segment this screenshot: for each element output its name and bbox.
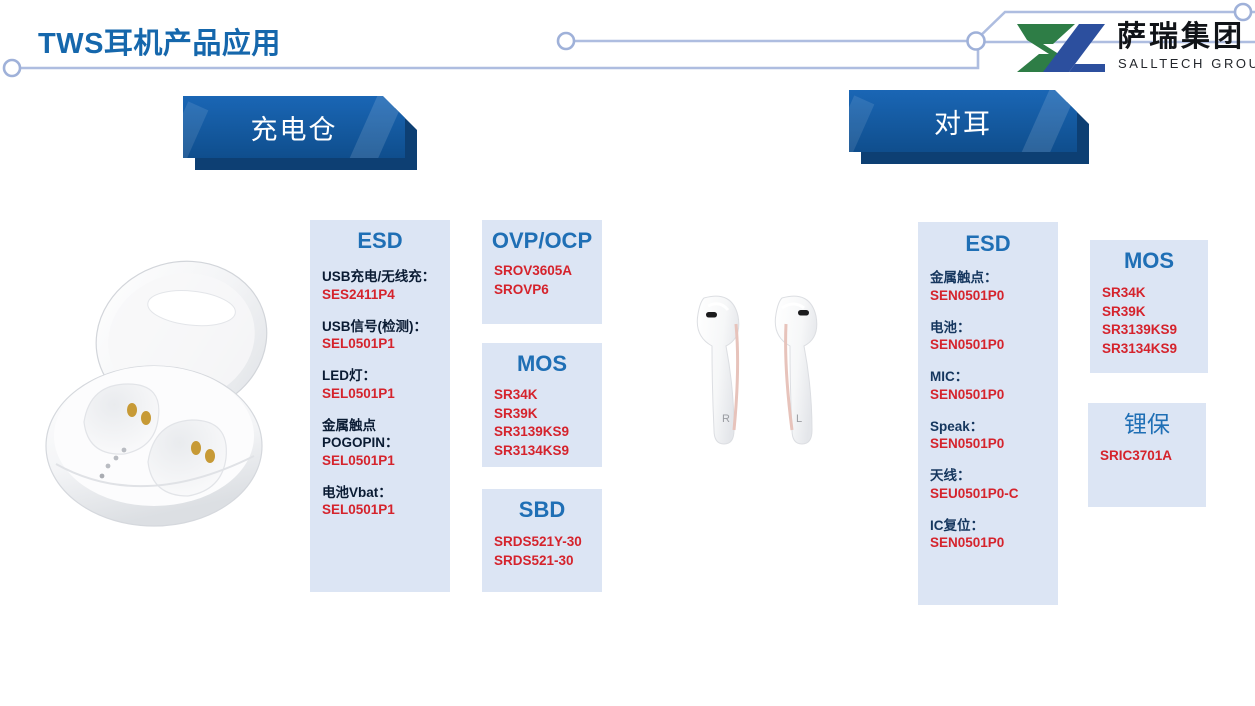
- panel-title: ESD: [310, 220, 450, 254]
- spec-part-number: SR3134KS9: [494, 442, 602, 461]
- spec-part-number: SR3134KS9: [1102, 340, 1208, 359]
- banner-label-charging-case: 充电仓: [183, 96, 405, 158]
- panel-ovp-ocp: OVP/OCP SROV3605A SROVP6: [482, 220, 602, 324]
- spec-row: 天线： SEU0501P0-C: [930, 467, 1058, 503]
- spec-part-number: SEN0501P0: [930, 287, 1058, 305]
- panel-esd-earbuds: ESD 金属触点： SEN0501P0 电池： SEN0501P0 MIC： S…: [918, 222, 1058, 605]
- spec-label: USB充电/无线充：: [322, 268, 450, 286]
- spec-part-number: SR34K: [1102, 284, 1208, 303]
- spec-row: 金属触点： SEN0501P0: [930, 269, 1058, 305]
- spec-row: USB信号(检测)： SEL0501P1: [322, 318, 450, 354]
- earbuds-photo: R L: [668, 272, 858, 462]
- panel-title: MOS: [1090, 240, 1208, 274]
- spec-part-number: SR3139KS9: [494, 423, 602, 442]
- slide-canvas: TWS耳机产品应用 萨瑞集团 SALLTECH GROUP 充电仓 对耳: [0, 0, 1255, 706]
- spec-part-number: SRIC3701A: [1100, 447, 1206, 466]
- node-circle-left: [4, 60, 20, 76]
- panel-title: SBD: [482, 489, 602, 523]
- svg-text:R: R: [722, 413, 730, 425]
- spec-label-line2: POGOPIN：: [322, 434, 450, 452]
- spec-label: MIC：: [930, 368, 1058, 386]
- spec-part-number: SEL0501P1: [322, 501, 450, 519]
- spec-row: IC复位： SEN0501P0: [930, 517, 1058, 553]
- spec-part-number: SR3139KS9: [1102, 321, 1208, 340]
- spec-part-number: SR39K: [1102, 303, 1208, 322]
- panel-esd-charging-case: ESD USB充电/无线充： SES2411P4 USB信号(检测)： SEL0…: [310, 220, 450, 592]
- spec-part-number: SR34K: [494, 386, 602, 405]
- node-circle-right: [968, 33, 985, 50]
- spec-part-number: SEN0501P0: [930, 386, 1058, 404]
- spec-row: USB充电/无线充： SES2411P4: [322, 268, 450, 304]
- logo-company-name-en: SALLTECH GROUP: [1118, 56, 1255, 71]
- banner-label-earbuds: 对耳: [849, 90, 1077, 152]
- spec-label: 金属触点: [322, 417, 450, 435]
- spec-part-number: SROVP6: [494, 281, 602, 300]
- spec-part-number: SRDS521Y-30: [494, 533, 602, 552]
- spec-part-number: SEN0501P0: [930, 435, 1058, 453]
- spec-part-number: SEN0501P0: [930, 534, 1058, 552]
- company-logo: 萨瑞集团 SALLTECH GROUP: [1013, 18, 1245, 80]
- panel-title: ESD: [918, 222, 1058, 257]
- section-banner-charging-case: 充电仓: [183, 96, 405, 158]
- spec-label: LED灯：: [322, 367, 450, 385]
- spec-label: 金属触点：: [930, 269, 1058, 287]
- panel-sbd: SBD SRDS521Y-30 SRDS521-30: [482, 489, 602, 592]
- svg-text:L: L: [796, 413, 802, 425]
- spec-part-number: SEL0501P1: [322, 335, 450, 353]
- salltech-logo-mark-icon: [1013, 20, 1109, 76]
- spec-label: USB信号(检测)：: [322, 318, 450, 336]
- logo-company-name-cn: 萨瑞集团: [1117, 20, 1245, 54]
- spec-row: 电池： SEN0501P0: [930, 319, 1058, 355]
- node-circle-mid: [558, 33, 574, 49]
- spec-part-number: SES2411P4: [322, 286, 450, 304]
- spec-part-number: SRDS521-30: [494, 552, 602, 571]
- charging-case-photo: [32, 250, 298, 542]
- panel-mos-charging-case: MOS SR34K SR39K SR3139KS9 SR3134KS9: [482, 343, 602, 467]
- spec-row: 电池Vbat： SEL0501P1: [322, 484, 450, 520]
- page-title: TWS耳机产品应用: [38, 20, 281, 62]
- panel-title: 锂保: [1088, 403, 1206, 437]
- spec-row: Speak： SEN0501P0: [930, 418, 1058, 454]
- spec-part-number: SEL0501P1: [322, 452, 450, 470]
- spec-part-number: SROV3605A: [494, 262, 602, 281]
- spec-label: 天线：: [930, 467, 1058, 485]
- panel-title: MOS: [482, 343, 602, 377]
- spec-row: MIC： SEN0501P0: [930, 368, 1058, 404]
- spec-part-number: SEL0501P1: [322, 385, 450, 403]
- spec-part-number: SR39K: [494, 405, 602, 424]
- spec-label: 电池：: [930, 319, 1058, 337]
- spec-part-number: SEU0501P0-C: [930, 485, 1058, 503]
- earbud-left: L: [775, 296, 817, 444]
- spec-row: 金属触点 POGOPIN： SEL0501P1: [322, 417, 450, 470]
- spec-part-number: SEN0501P0: [930, 336, 1058, 354]
- earbud-right: R: [697, 296, 739, 444]
- panel-lithium-protection: 锂保 SRIC3701A: [1088, 403, 1206, 507]
- spec-label: 电池Vbat：: [322, 484, 450, 502]
- spec-label: IC复位：: [930, 517, 1058, 535]
- spec-label: Speak：: [930, 418, 1058, 436]
- section-banner-earbuds: 对耳: [849, 90, 1077, 152]
- panel-mos-earbuds: MOS SR34K SR39K SR3139KS9 SR3134KS9: [1090, 240, 1208, 373]
- spec-row: LED灯： SEL0501P1: [322, 367, 450, 403]
- panel-title: OVP/OCP: [482, 220, 602, 254]
